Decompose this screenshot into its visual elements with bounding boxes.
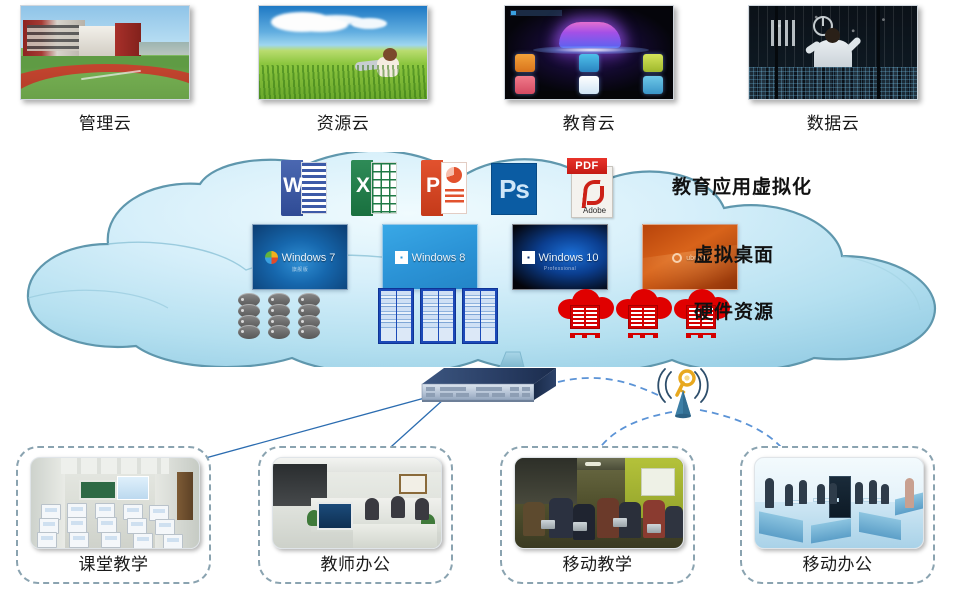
computer-classroom-photo bbox=[30, 457, 200, 549]
pdf-icon[interactable]: PDF Adobe bbox=[567, 158, 615, 218]
top-cloud-card-1[interactable]: 管理云 bbox=[20, 5, 190, 134]
server-rack-icon bbox=[420, 288, 456, 344]
teacher-office-photo bbox=[272, 457, 442, 549]
powerpoint-icon[interactable]: P bbox=[421, 160, 467, 216]
app-virtualization-row: W X P Ps PDF Adobe bbox=[281, 158, 615, 218]
wireless-access-point[interactable] bbox=[655, 368, 711, 420]
top-cloud-card-2[interactable]: 资源云 bbox=[258, 5, 428, 134]
windows8-desktop-tile[interactable]: Windows 8 bbox=[382, 224, 478, 290]
word-icon[interactable]: W bbox=[281, 160, 327, 216]
cloud-architecture-diagram: 管理云 资源云 教育云 bbox=[0, 0, 972, 597]
top-cloud-card-3[interactable]: 教育云 bbox=[504, 5, 674, 134]
hardware-resource-row bbox=[238, 288, 730, 344]
scenario-box-mobile-teaching[interactable]: 移动教学 bbox=[500, 446, 695, 584]
grass-field-laptop-photo bbox=[258, 5, 428, 100]
database-icon bbox=[238, 293, 260, 339]
top-cloud-label-4: 数据云 bbox=[748, 109, 918, 134]
core-network-switch[interactable] bbox=[418, 366, 558, 410]
top-cloud-label-1: 管理云 bbox=[20, 109, 190, 134]
windows-flag-icon bbox=[522, 251, 535, 264]
cloud-server-icon bbox=[614, 289, 672, 341]
education-cloud-screen-photo bbox=[504, 5, 674, 100]
top-cloud-card-4[interactable]: 数据云 bbox=[748, 5, 918, 134]
windows10-desktop-tile[interactable]: Windows 10 Professional bbox=[512, 224, 608, 290]
server-rack-icon bbox=[462, 288, 498, 344]
school-campus-photo bbox=[20, 5, 190, 100]
scenario-label-mobile-teaching: 移动教学 bbox=[502, 550, 693, 575]
windows7-orb-icon bbox=[265, 251, 278, 264]
server-rack-icon bbox=[378, 288, 414, 344]
ubuntu-logo-icon bbox=[672, 253, 682, 263]
server-racks-group[interactable] bbox=[378, 288, 498, 344]
windows-flag-icon bbox=[395, 251, 408, 264]
mobile-classroom-photo bbox=[514, 457, 684, 549]
scenario-box-mobile-office[interactable]: 移动办公 bbox=[740, 446, 935, 584]
database-icon bbox=[298, 293, 320, 339]
adobe-wordmark: Adobe bbox=[583, 206, 606, 215]
wire-switch-to-ap bbox=[558, 378, 660, 396]
photoshop-icon[interactable]: Ps bbox=[491, 163, 537, 215]
layer-label-hardware-resource: 硬件资源 bbox=[694, 297, 774, 324]
scenario-label-mobile-office: 移动办公 bbox=[742, 550, 933, 575]
layer-label-app-virtualization: 教育应用虚拟化 bbox=[672, 172, 812, 199]
mobile-office-photo bbox=[754, 457, 924, 549]
windows7-desktop-tile[interactable]: Windows 7 旗舰版 bbox=[252, 224, 348, 290]
scenario-box-teacher-office[interactable]: 教师办公 bbox=[258, 446, 453, 584]
top-cloud-label-2: 资源云 bbox=[258, 109, 428, 134]
pdf-badge: PDF bbox=[567, 158, 607, 174]
cloud-server-icon bbox=[556, 289, 614, 341]
excel-icon[interactable]: X bbox=[351, 160, 397, 216]
scenario-box-classroom[interactable]: 课堂教学 bbox=[16, 446, 211, 584]
scenario-label-teacher-office: 教师办公 bbox=[260, 550, 451, 575]
scenario-label-classroom: 课堂教学 bbox=[18, 550, 209, 575]
virtual-desktop-row: Windows 7 旗舰版 Windows 8 Windows 10 Profe… bbox=[252, 224, 738, 290]
layer-label-virtual-desktop: 虚拟桌面 bbox=[694, 240, 774, 267]
data-analytics-businessman-photo bbox=[748, 5, 918, 100]
acrobat-swirl-icon bbox=[581, 180, 601, 206]
database-icon bbox=[268, 293, 290, 339]
storage-databases-group[interactable] bbox=[238, 293, 320, 339]
top-cloud-label-3: 教育云 bbox=[504, 109, 674, 134]
